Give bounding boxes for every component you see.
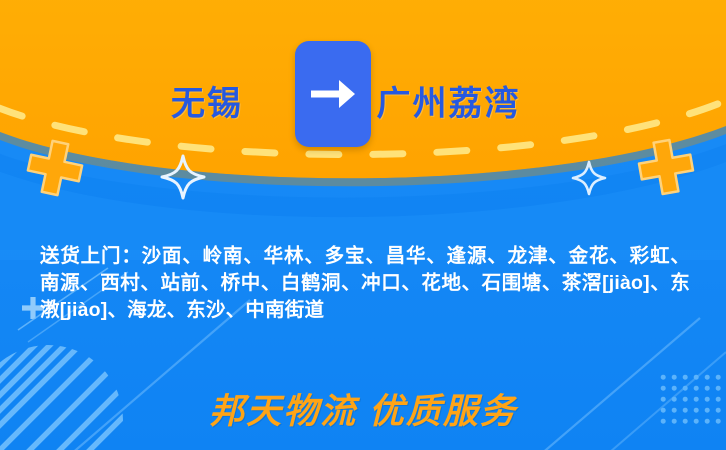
- route-row: 无锡 广州荔湾: [0, 0, 726, 185]
- logistics-route-banner: 无锡 广州荔湾 送货上门：沙面、岭南、华林、多宝、昌华、逢源、龙津、金花、彩虹、…: [0, 0, 726, 450]
- delivery-areas-text: 送货上门：沙面、岭南、华林、多宝、昌华、逢源、龙津、金花、彩虹、南源、西村、站前…: [40, 243, 690, 324]
- destination-city-label: 广州荔湾: [371, 87, 607, 121]
- origin-city-label: 无锡: [120, 87, 295, 121]
- company-slogan: 邦天物流 优质服务: [0, 383, 726, 434]
- arrow-right-icon: [309, 77, 357, 111]
- route-arrow-button[interactable]: [295, 41, 371, 147]
